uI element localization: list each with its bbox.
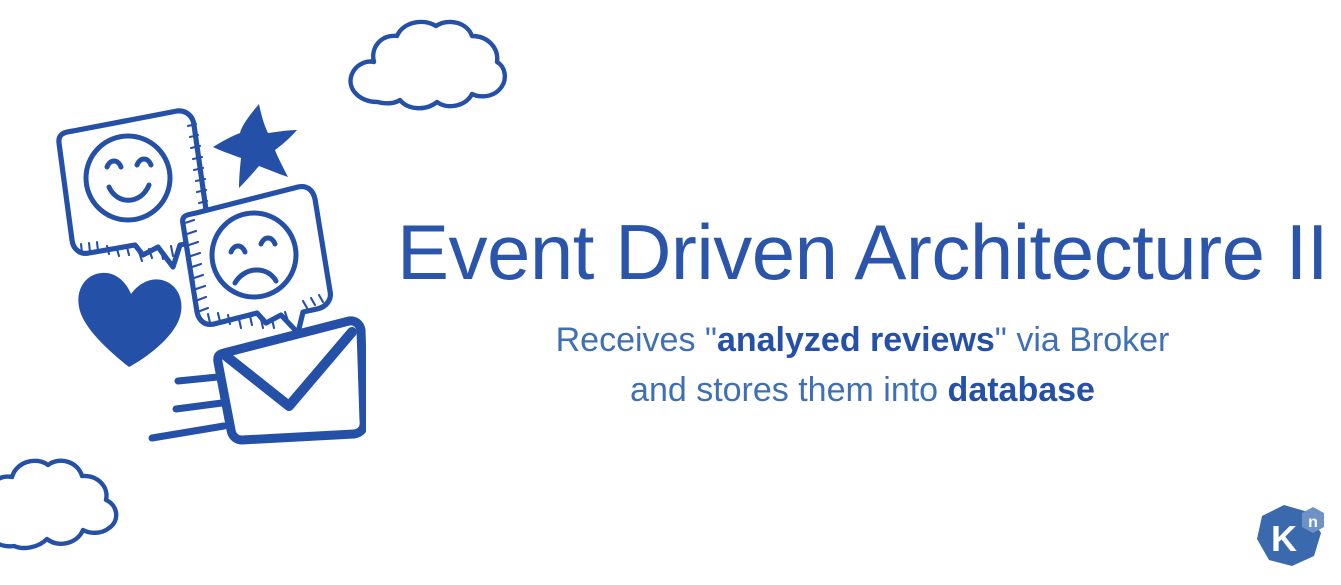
subtitle-line-2-emphasis: database [948, 371, 1095, 409]
star-icon [212, 100, 304, 188]
page-subtitle: Receives "analyzed reviews" via Broker a… [395, 316, 1330, 415]
sad-review-card [183, 187, 331, 333]
review-cards-illustration [55, 95, 345, 365]
subtitle-line-2-prefix: and stores them into [630, 371, 948, 409]
subtitle-line-1-suffix: " via Broker [995, 321, 1170, 359]
subtitle-line-2: and stores them into database [395, 366, 1330, 415]
subtitle-line-1-emphasis: analyzed reviews [717, 321, 995, 359]
heart-icon [76, 268, 184, 368]
happy-review-card [59, 111, 208, 267]
cloud-icon [0, 436, 138, 566]
envelope-icon [218, 321, 364, 440]
logo-letter-k: K [1271, 518, 1297, 559]
cloud-icon [340, 14, 510, 114]
subtitle-line-1-prefix: Receives " [556, 321, 717, 359]
slide-text-block: Event Driven Architecture II Receives "a… [395, 210, 1330, 415]
logo-letter-n: n [1308, 514, 1318, 531]
envelope-illustration [146, 308, 366, 456]
motion-lines [152, 375, 238, 438]
slide-canvas: Event Driven Architecture II Receives "a… [0, 0, 1341, 585]
brand-logo: K n [1251, 503, 1329, 575]
subtitle-line-1: Receives "analyzed reviews" via Broker [395, 316, 1330, 365]
page-title: Event Driven Architecture II [395, 210, 1330, 294]
